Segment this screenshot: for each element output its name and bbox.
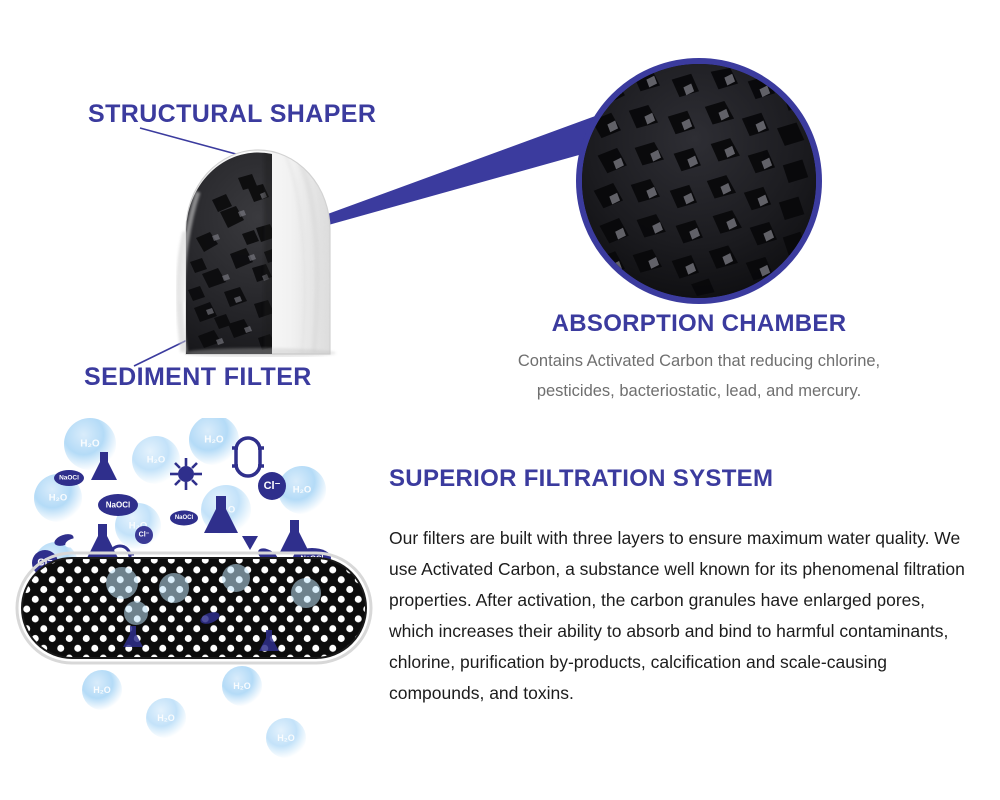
superior-filtration-block: SUPERIOR FILTRATION SYSTEM Our filters a… [389,465,974,727]
svg-text:H₂O: H₂O [233,681,251,691]
superior-filtration-heading: SUPERIOR FILTRATION SYSTEM [389,465,974,493]
activated-carbon-slab [17,553,371,663]
carbon-granule-texture [582,64,816,298]
absorption-description-line-1: Contains Activated Carbon that reducing … [449,346,949,376]
svg-text:H₂O: H₂O [293,485,311,496]
absorption-chamber-block: ABSORPTION CHAMBER Contains Activated Ca… [449,310,949,406]
cartridge-carbon-core [168,142,368,357]
svg-text:NaOCl: NaOCl [59,475,79,482]
svg-text:H₂O: H₂O [80,439,100,450]
svg-text:Cl⁻: Cl⁻ [139,532,150,539]
svg-text:H₂O: H₂O [93,685,111,695]
filter-cartridge-illustration [168,142,368,357]
callout-label-structural-shaper: STRUCTURAL SHAPER [88,100,376,129]
superior-filtration-body: Our filters are built with three layers … [389,523,974,709]
absorption-chamber-heading: ABSORPTION CHAMBER [449,310,949,338]
svg-text:H₂O: H₂O [157,713,175,723]
svg-text:H₂O: H₂O [277,733,295,743]
svg-text:H₂O: H₂O [147,455,165,466]
svg-text:H₂O: H₂O [49,493,67,504]
callout-label-sediment-filter: SEDIMENT FILTER [84,363,312,392]
svg-text:NaOCl: NaOCl [106,501,130,510]
svg-text:H₂O: H₂O [204,435,224,446]
svg-text:NaOCl: NaOCl [175,515,194,521]
infographic-canvas: STRUCTURAL SHAPER SEDIMENT FILTER ABSORP… [0,0,1000,800]
absorption-chamber-description: Contains Activated Carbon that reducing … [449,346,949,406]
activated-carbon-magnifier [576,58,822,304]
filtration-molecule-illustration: H₂O H₂O H₂O H₂O H₂O H₂O H₂O H₂O Cl⁻ Cl⁻ … [14,418,374,788]
svg-text:Cl⁻: Cl⁻ [264,480,281,492]
purified-water-droplets: H₂O H₂O H₂O H₂O [82,666,306,758]
absorption-description-line-2: pesticides, bacteriostatic, lead, and me… [449,376,949,406]
